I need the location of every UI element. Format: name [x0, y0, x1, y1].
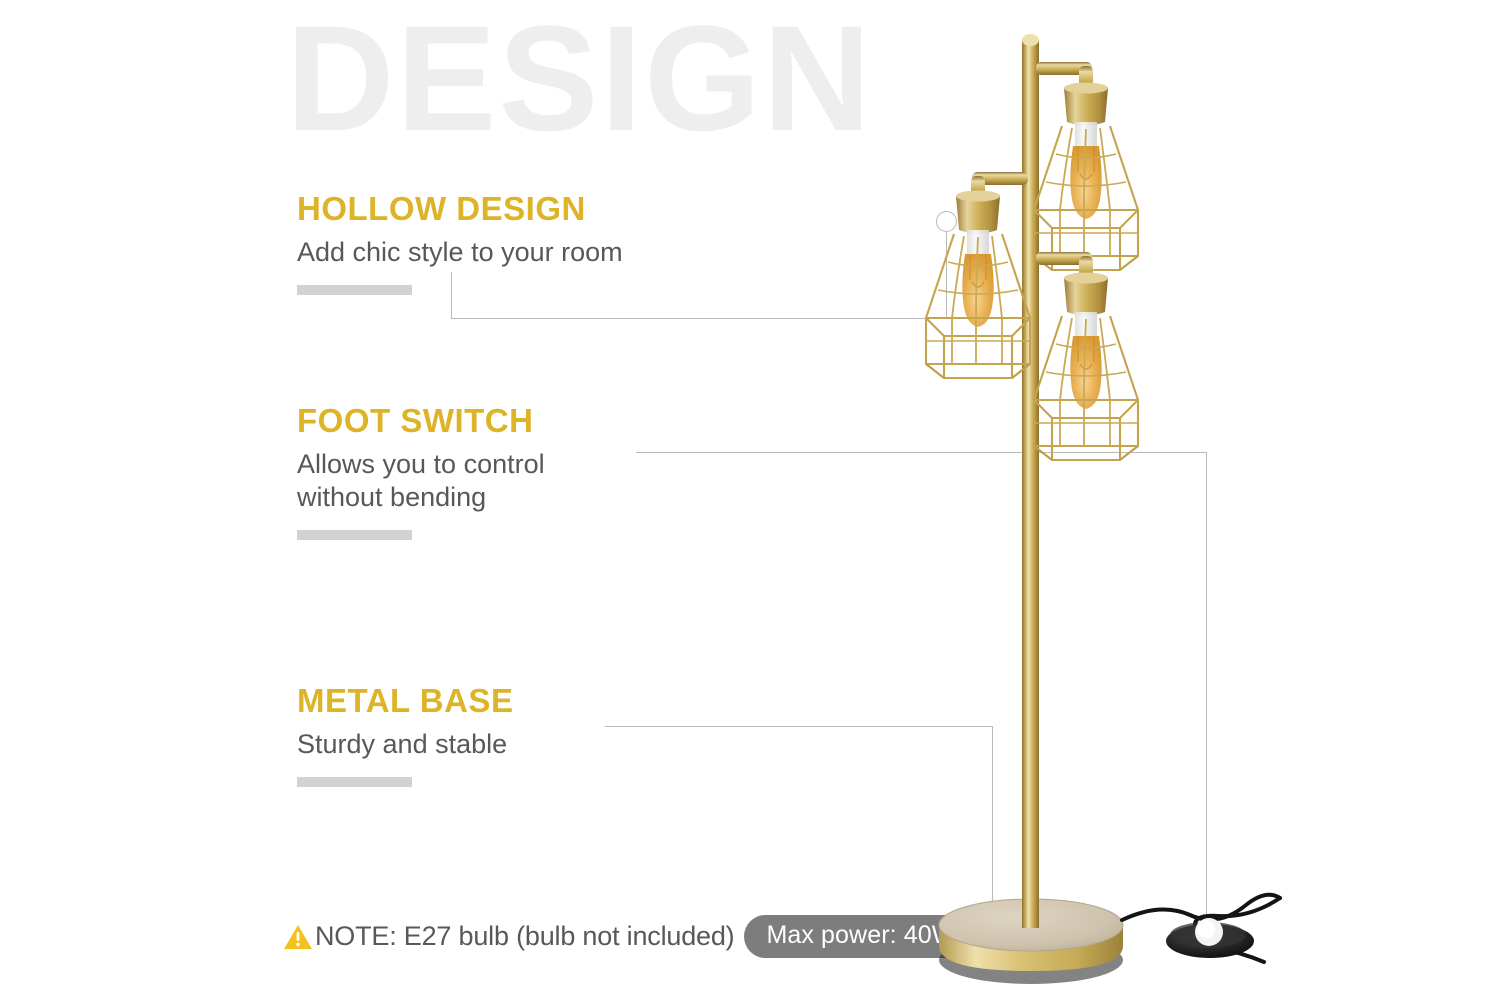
feature-underline-bar-foot-switch: [297, 530, 412, 540]
leader-segment-vertical: [451, 272, 452, 318]
feature-underline-bar-hollow-design: [297, 285, 412, 295]
lamp-head-top: [1034, 62, 1138, 270]
feature-subtitle-foot-switch: Allows you to control without bending: [297, 448, 545, 514]
warning-triangle-icon: [283, 923, 313, 951]
feature-block-foot-switch: FOOT SWITCH Allows you to control withou…: [297, 404, 545, 540]
lamp-head-lower: [1034, 252, 1138, 460]
feature-block-metal-base: METAL BASE Sturdy and stable: [297, 684, 513, 787]
cage-shade-middle: [926, 191, 1030, 379]
feature-title-metal-base: METAL BASE: [297, 684, 513, 719]
feature-subtitle-hollow-design: Add chic style to your room: [297, 236, 623, 269]
cage-shade-lower: [1034, 273, 1138, 461]
feature-block-hollow-design: HOLLOW DESIGN Add chic style to your roo…: [297, 192, 623, 295]
feature-title-foot-switch: FOOT SWITCH: [297, 404, 545, 439]
lamp-metal-base: [939, 880, 1123, 984]
foot-switch-pedal[interactable]: [1166, 918, 1254, 958]
note-text: NOTE: E27 bulb (bulb not included): [315, 921, 734, 952]
watermark-design-text: DESIGN: [286, 0, 873, 165]
feature-subtitle-metal-base: Sturdy and stable: [297, 728, 513, 761]
lamp-pole: [1022, 34, 1039, 915]
feature-underline-bar-metal-base: [297, 777, 412, 787]
infographic-canvas: DESIGN HOLLOW DESIGN Add chic style to y…: [0, 0, 1500, 1000]
feature-title-hollow-design: HOLLOW DESIGN: [297, 192, 623, 227]
product-image-floor-lamp: [860, 0, 1360, 1000]
cage-shade-top: [1034, 83, 1138, 271]
lamp-head-middle: [926, 172, 1030, 378]
